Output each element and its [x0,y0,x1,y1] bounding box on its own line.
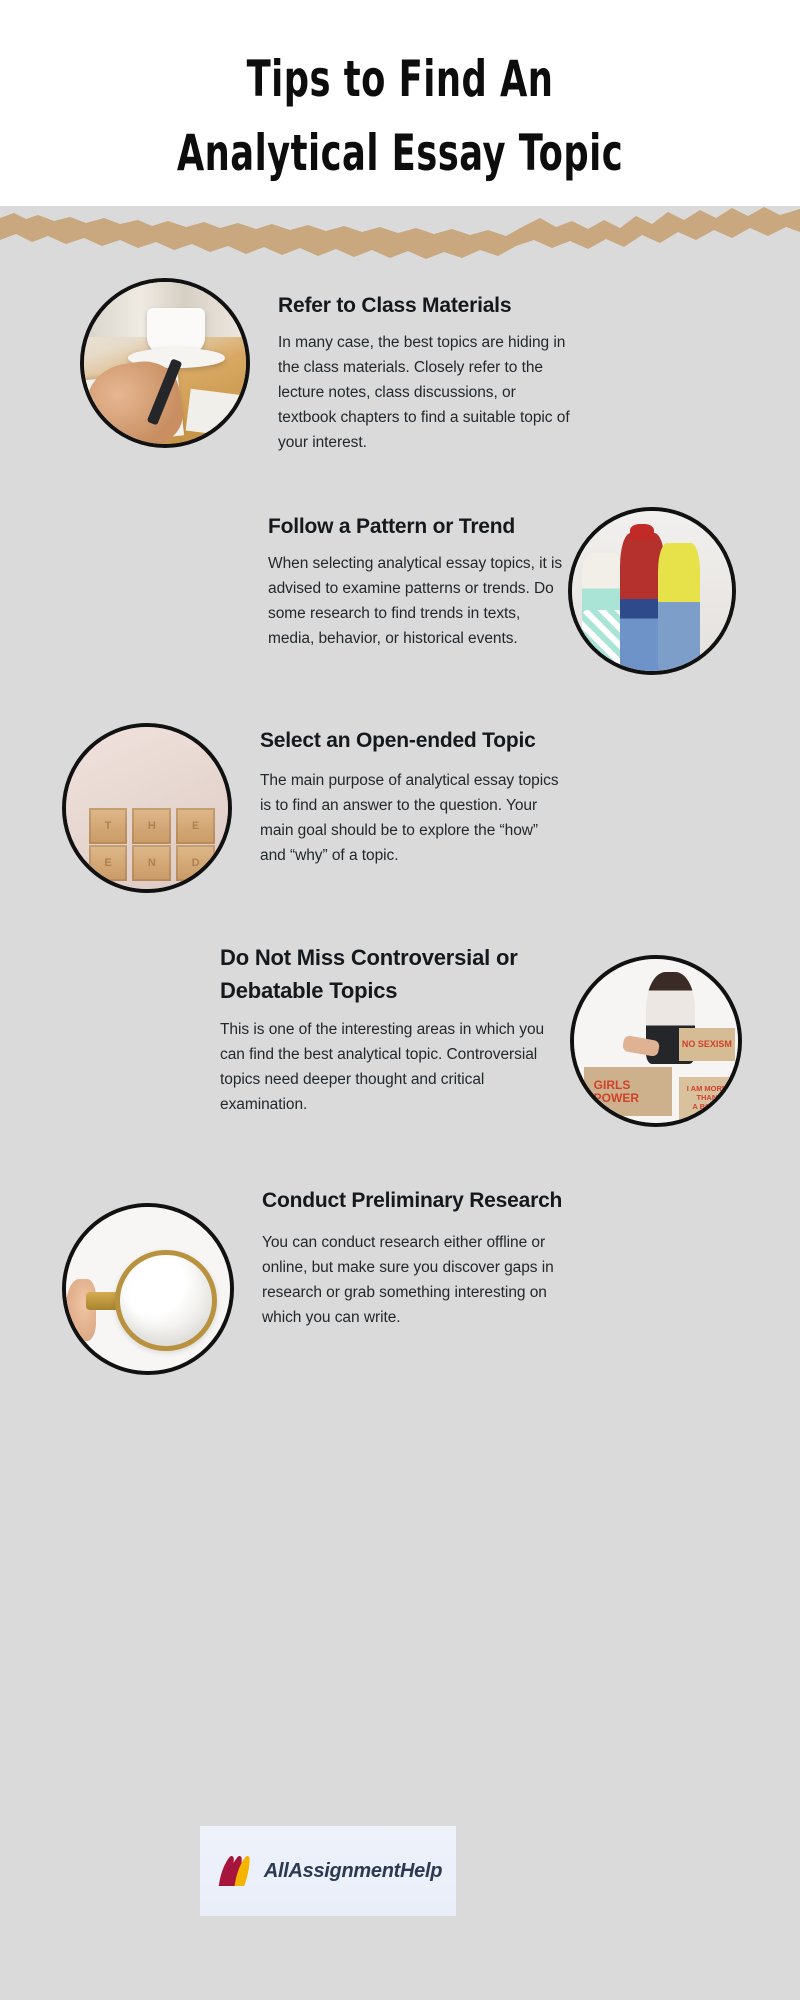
section-do-not-miss-controversial-or-debatable-topics: NO SEXISM GIRLS POWER I AM MORE THAN A B… [0,893,800,1127]
sign-line: GIRLS [594,1079,631,1092]
section-heading: Refer to Class Materials [278,290,578,321]
section-heading: Do Not Miss Controversial or Debatable T… [220,941,570,1007]
protest-signs-photo: NO SEXISM GIRLS POWER I AM MORE THAN A B… [570,955,742,1127]
wooden-letter: H [132,808,171,844]
section-heading: Conduct Preliminary Research [262,1185,564,1216]
infographic-page: Tips to Find An Analytical Essay Topic R… [0,0,800,2000]
wooden-letter: T [89,808,128,844]
sections-container: Refer to Class Materials In many case, t… [0,250,800,1375]
protest-sign-no-sexism: NO SEXISM [679,1028,735,1061]
desk-writing-photo [80,278,250,448]
allassignmenthelp-m-logo [214,1854,252,1888]
the-end-letters-photo-art: T H E E N D [66,727,228,889]
protest-signs-photo-art: NO SEXISM GIRLS POWER I AM MORE THAN A B… [574,959,738,1123]
section-body: This is one of the interesting areas in … [220,1017,570,1117]
wooden-letter: E [89,845,128,881]
header: Tips to Find An Analytical Essay Topic [0,0,800,206]
sign-line: A BODY [692,1103,721,1112]
section-text-block: Conduct Preliminary Research You can con… [262,1185,564,1330]
footer-logo-text: AllAssignmentHelp [264,1860,442,1883]
section-refer-to-class-materials: Refer to Class Materials In many case, t… [0,250,800,455]
wooden-letter: E [176,808,215,844]
page-title-line-2: Analytical Essay Topic [28,116,772,190]
magnifying-glass-photo [62,1203,234,1375]
magnifying-glass-photo-art [66,1207,230,1371]
section-conduct-preliminary-research: Conduct Preliminary Research You can con… [0,1127,800,1375]
group-streetwear-photo [568,507,736,675]
section-body: When selecting analytical essay topics, … [268,551,568,651]
sign-line: POWER [594,1092,639,1105]
section-follow-a-pattern-or-trend: Follow a Pattern or Trend When selecting… [0,455,800,675]
section-text-block: Refer to Class Materials In many case, t… [278,290,578,455]
group-streetwear-photo-art [572,511,732,671]
protest-sign-i-am-more-than-a-body: I AM MORE THAN A BODY [679,1077,735,1120]
section-body: In many case, the best topics are hiding… [278,330,578,455]
protest-sign-girls-power: GIRLS POWER [584,1067,673,1116]
section-heading: Select an Open-ended Topic [260,725,566,756]
wooden-letter: D [176,845,215,881]
section-body: The main purpose of analytical essay top… [260,768,566,868]
the-end-letters-photo: T H E E N D [62,723,232,893]
section-body: You can conduct research either offline … [262,1230,564,1330]
section-text-block: Do Not Miss Controversial or Debatable T… [220,941,570,1117]
desk-writing-photo-art [84,282,246,444]
section-text-block: Select an Open-ended Topic The main purp… [260,725,566,868]
footer-logo-card[interactable]: AllAssignmentHelp [200,1826,456,1916]
section-select-an-open-ended-topic: T H E E N D Select an Open-ended Topic T… [0,675,800,893]
section-text-block: Follow a Pattern or Trend When selecting… [268,511,568,651]
section-heading: Follow a Pattern or Trend [268,511,568,542]
wooden-letter: N [132,845,171,881]
page-title-line-1: Tips to Find An [28,42,772,116]
